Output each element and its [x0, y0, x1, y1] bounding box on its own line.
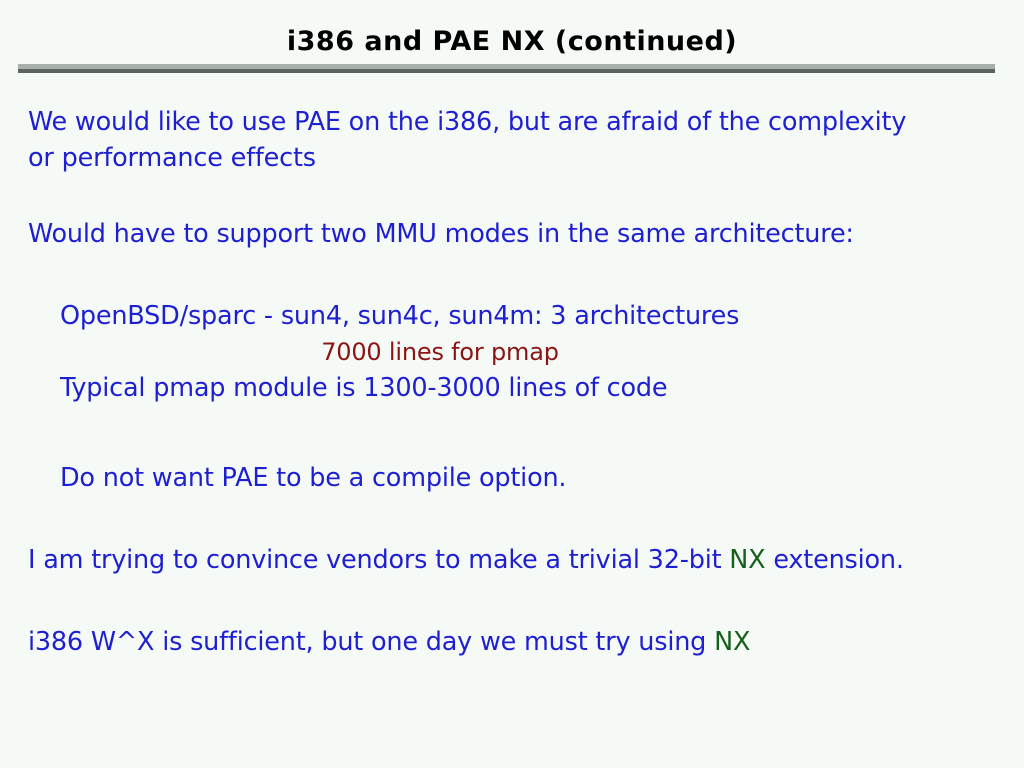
slide-body: We would like to use PAE on the i386, bu…: [0, 104, 1024, 660]
paragraph-3-text-before: I am trying to convince vendors to make …: [28, 545, 729, 575]
title-divider: [18, 64, 995, 73]
paragraph-3-text-after: extension.: [765, 545, 903, 575]
body-paragraph-2: Would have to support two MMU modes in t…: [28, 216, 908, 252]
body-paragraph-4: i386 W^X is sufficient, but one day we m…: [28, 624, 908, 660]
paragraph-4-text-before: i386 W^X is sufficient, but one day we m…: [28, 627, 714, 657]
note-pmap-lines: 7000 lines for pmap: [0, 334, 880, 370]
body-paragraph-1: We would like to use PAE on the i386, bu…: [28, 104, 908, 176]
bullet-compile-option: Do not want PAE to be a compile option.: [60, 460, 940, 496]
page-title: i386 and PAE NX (continued): [0, 26, 1024, 57]
bullet-typical-pmap: Typical pmap module is 1300-3000 lines o…: [60, 370, 940, 406]
spacer: [0, 176, 1024, 216]
nx-highlight: NX: [729, 545, 765, 575]
body-paragraph-3: I am trying to convince vendors to make …: [28, 542, 908, 578]
slide-canvas: i386 and PAE NX (continued) We would lik…: [0, 0, 1024, 768]
nx-highlight: NX: [714, 627, 750, 657]
divider-shadow: [18, 69, 995, 73]
spacer: [0, 406, 1024, 460]
spacer: [0, 252, 1024, 298]
spacer: [0, 496, 1024, 542]
spacer: [0, 578, 1024, 624]
bullet-openbsd-sparc: OpenBSD/sparc - sun4, sun4c, sun4m: 3 ar…: [60, 298, 940, 334]
